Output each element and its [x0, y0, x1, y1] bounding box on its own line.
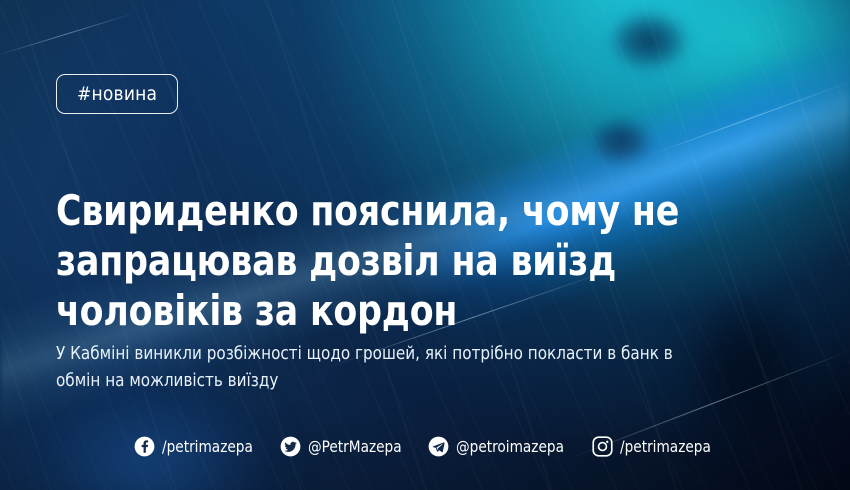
social-handle-instagram: /petrimazepa: [620, 437, 711, 456]
social-handle-twitter: @PetrMazepa: [308, 437, 402, 456]
social-handle-facebook: /petrimazepa: [162, 437, 253, 456]
social-link-telegram[interactable]: @petroimazepa: [428, 436, 570, 457]
social-link-twitter[interactable]: @PetrMazepa: [280, 436, 407, 457]
social-links: /petrimazepa @PetrMazepa @petroimazepa: [0, 436, 850, 457]
subtitle: У Кабміні виникли розбіжності щодо гроше…: [56, 340, 695, 394]
card-content: #новина Свириденко пояснила, чому не зап…: [0, 0, 850, 490]
facebook-icon: [134, 436, 155, 457]
telegram-icon: [428, 436, 449, 457]
tag-badge[interactable]: #новина: [56, 74, 178, 114]
twitter-icon: [280, 436, 301, 457]
news-card: #новина Свириденко пояснила, чому не зап…: [0, 0, 850, 490]
page-title: Свириденко пояснила, чому не запрацював …: [56, 186, 691, 336]
social-handle-telegram: @petroimazepa: [456, 437, 564, 456]
instagram-icon: [592, 436, 613, 457]
social-link-facebook[interactable]: /petrimazepa: [134, 436, 258, 457]
social-link-instagram[interactable]: /petrimazepa: [592, 436, 716, 457]
